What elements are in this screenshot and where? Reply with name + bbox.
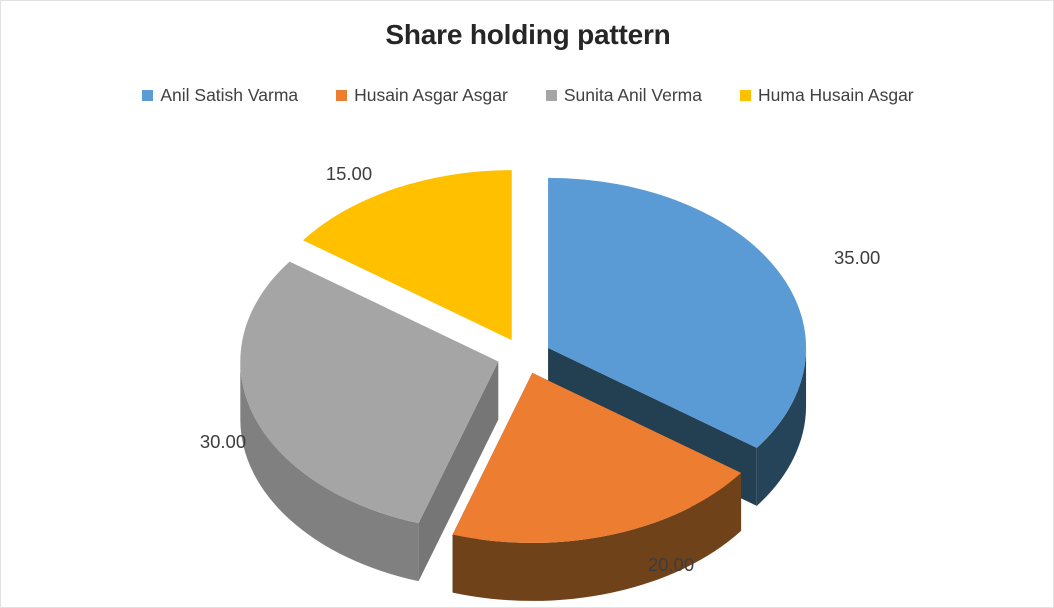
data-label-blue: 35.00 bbox=[834, 247, 880, 268]
chart-canvas: Share holding pattern Anil Satish Varma … bbox=[0, 0, 1054, 608]
data-label-orange: 20.00 bbox=[648, 554, 694, 575]
pie-chart-plot: 35.00 20.00 30.00 15.00 bbox=[1, 1, 1054, 608]
data-label-yellow: 15.00 bbox=[326, 163, 372, 184]
pie-slices-group bbox=[240, 170, 806, 601]
data-label-gray: 30.00 bbox=[200, 431, 246, 452]
